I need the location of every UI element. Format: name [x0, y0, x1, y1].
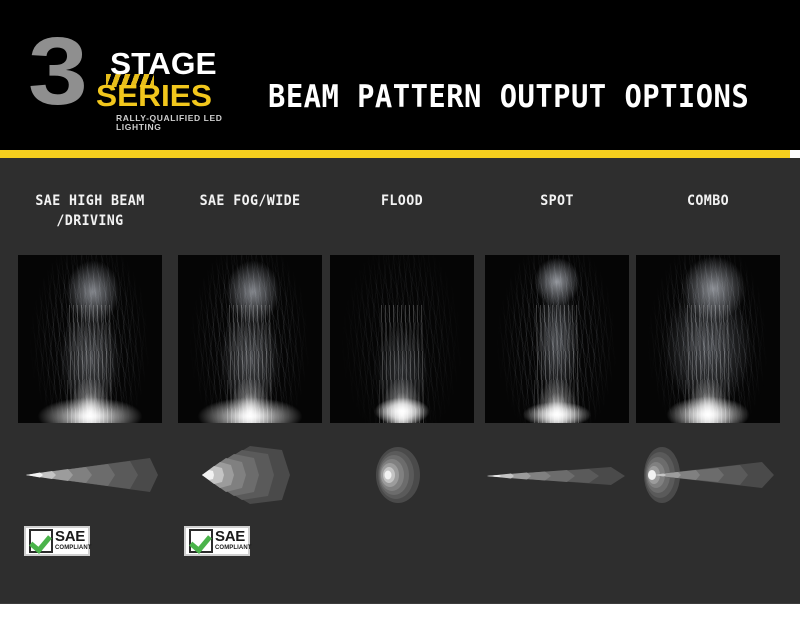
panel-bottom-rule: [0, 603, 800, 604]
page-title: BEAM PATTERN OUTPUT OPTIONS: [268, 80, 752, 114]
sae-badge-inner: SAE COMPLIANT: [186, 528, 248, 554]
stage-series-logo: 3 STAGE SERIES RALLY-QUALIFIED LED LIGHT…: [28, 30, 258, 130]
night-beam-photo-sae-fog-wide: [178, 255, 322, 423]
logo-word-series: SERIES: [96, 80, 212, 111]
beam-column-spot: SPOT: [485, 158, 629, 604]
night-beam-photo-combo: [636, 255, 780, 423]
beam-options-panel: SAE HIGH BEAM /DRIVING: [0, 158, 800, 604]
sae-badge-sub-label: COMPLIANT: [55, 544, 92, 552]
sae-badge-main-label: SAE: [55, 530, 92, 544]
column-label: SAE FOG/WIDE: [184, 191, 316, 211]
photo-lit-trail: [227, 305, 273, 423]
check-icon: [29, 529, 53, 553]
check-icon: [189, 529, 213, 553]
beam-shape-diagram-spot: [485, 440, 629, 510]
photo-lit-trail: [67, 305, 113, 423]
beam-column-sae-fog-wide: SAE FOG/WIDE: [178, 158, 322, 604]
column-label: FLOOD: [336, 191, 468, 211]
sae-badge-inner: SAE COMPLIANT: [26, 528, 88, 554]
sae-badge-text: SAE COMPLIANT: [215, 530, 252, 552]
sae-badge-text: SAE COMPLIANT: [55, 530, 92, 552]
sae-compliant-badge: SAE COMPLIANT: [184, 526, 250, 556]
beam-column-combo: COMBO: [636, 158, 780, 604]
night-beam-photo-spot: [485, 255, 629, 423]
beam-column-sae-high-beam-driving: SAE HIGH BEAM /DRIVING: [18, 158, 162, 604]
beam-shape-diagram-sae-high-beam-driving: [18, 440, 162, 510]
sae-badge-sub-label: COMPLIANT: [215, 544, 252, 552]
night-beam-photo-flood: [330, 255, 474, 423]
beam-column-flood: FLOOD: [330, 158, 474, 604]
logo-word-stage: STAGE: [110, 48, 217, 79]
sae-compliant-badge: SAE COMPLIANT: [24, 526, 90, 556]
logo-numeral-3: 3: [28, 24, 83, 120]
photo-lit-trail: [534, 305, 580, 423]
logo-tagline: RALLY-QUALIFIED LED LIGHTING: [116, 114, 258, 132]
beam-pattern-infographic: 3 STAGE SERIES RALLY-QUALIFIED LED LIGHT…: [0, 0, 800, 622]
sae-badge-main-label: SAE: [215, 530, 252, 544]
yellow-divider: [0, 150, 790, 158]
photo-lit-trail: [685, 305, 731, 423]
beam-shape-diagram-sae-fog-wide: [178, 440, 322, 510]
column-label: SPOT: [491, 191, 623, 211]
beam-shape-diagram-combo: [636, 440, 780, 510]
beam-shape-diagram-flood: [330, 440, 474, 510]
column-label: COMBO: [642, 191, 774, 211]
photo-lit-trail: [379, 305, 425, 423]
night-beam-photo-sae-high-beam-driving: [18, 255, 162, 423]
column-label: SAE HIGH BEAM /DRIVING: [7, 191, 173, 231]
header-bar: 3 STAGE SERIES RALLY-QUALIFIED LED LIGHT…: [0, 0, 800, 150]
